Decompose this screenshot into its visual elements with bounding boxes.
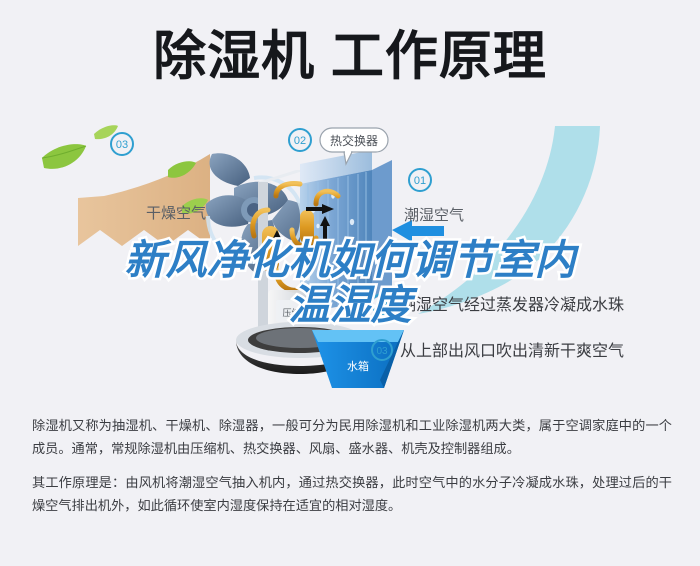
water-tank-label: 水箱 xyxy=(347,359,369,373)
svg-text:03: 03 xyxy=(376,346,388,357)
svg-text:02: 02 xyxy=(294,135,306,147)
humid-air-label: 潮湿空气 xyxy=(404,207,464,224)
water-tank-shape: 水箱 xyxy=(312,330,404,388)
legend-item-02: 02 潮湿空气经过蒸发器冷凝成水珠 xyxy=(372,294,624,314)
paragraph-2: 其工作原理是：由风机将潮湿空气抽入机内，通过热交换器，此时空气中的水分子冷凝成水… xyxy=(32,471,672,517)
svg-text:03: 03 xyxy=(116,139,128,151)
legend-text-03: 从上部出风口吹出清新干爽空气 xyxy=(400,342,624,360)
legend-item-03: 03 从上部出风口吹出清新干爽空气 xyxy=(372,340,624,360)
body-copy: 除湿机又称为抽湿机、干燥机、除湿器，一般可分为民用除湿机和工业除湿机两大类，属于… xyxy=(32,414,672,528)
badge-03-dry-air: 03 xyxy=(111,133,133,155)
legend-text-02: 潮湿空气经过蒸发器冷凝成水珠 xyxy=(400,296,624,314)
page-title: 除湿机 工作原理 xyxy=(0,26,700,88)
compressor-label: 压缩机 xyxy=(282,307,309,318)
heat-exchanger-callout-text: 热交换器 xyxy=(330,133,378,148)
dry-air-label: 干燥空气 xyxy=(146,205,206,222)
svg-text:02: 02 xyxy=(376,300,388,311)
svg-text:01: 01 xyxy=(414,175,426,187)
dehumidifier-diagram: 压缩机 水箱 03 xyxy=(0,118,700,396)
badge-01-humid-air: 01 xyxy=(409,169,431,191)
page-root: 除湿机 工作原理 xyxy=(0,0,700,566)
badge-02-heat-exchanger: 02 xyxy=(289,129,311,151)
paragraph-1: 除湿机又称为抽湿机、干燥机、除湿器，一般可分为民用除湿机和工业除湿机两大类，属于… xyxy=(32,414,672,460)
